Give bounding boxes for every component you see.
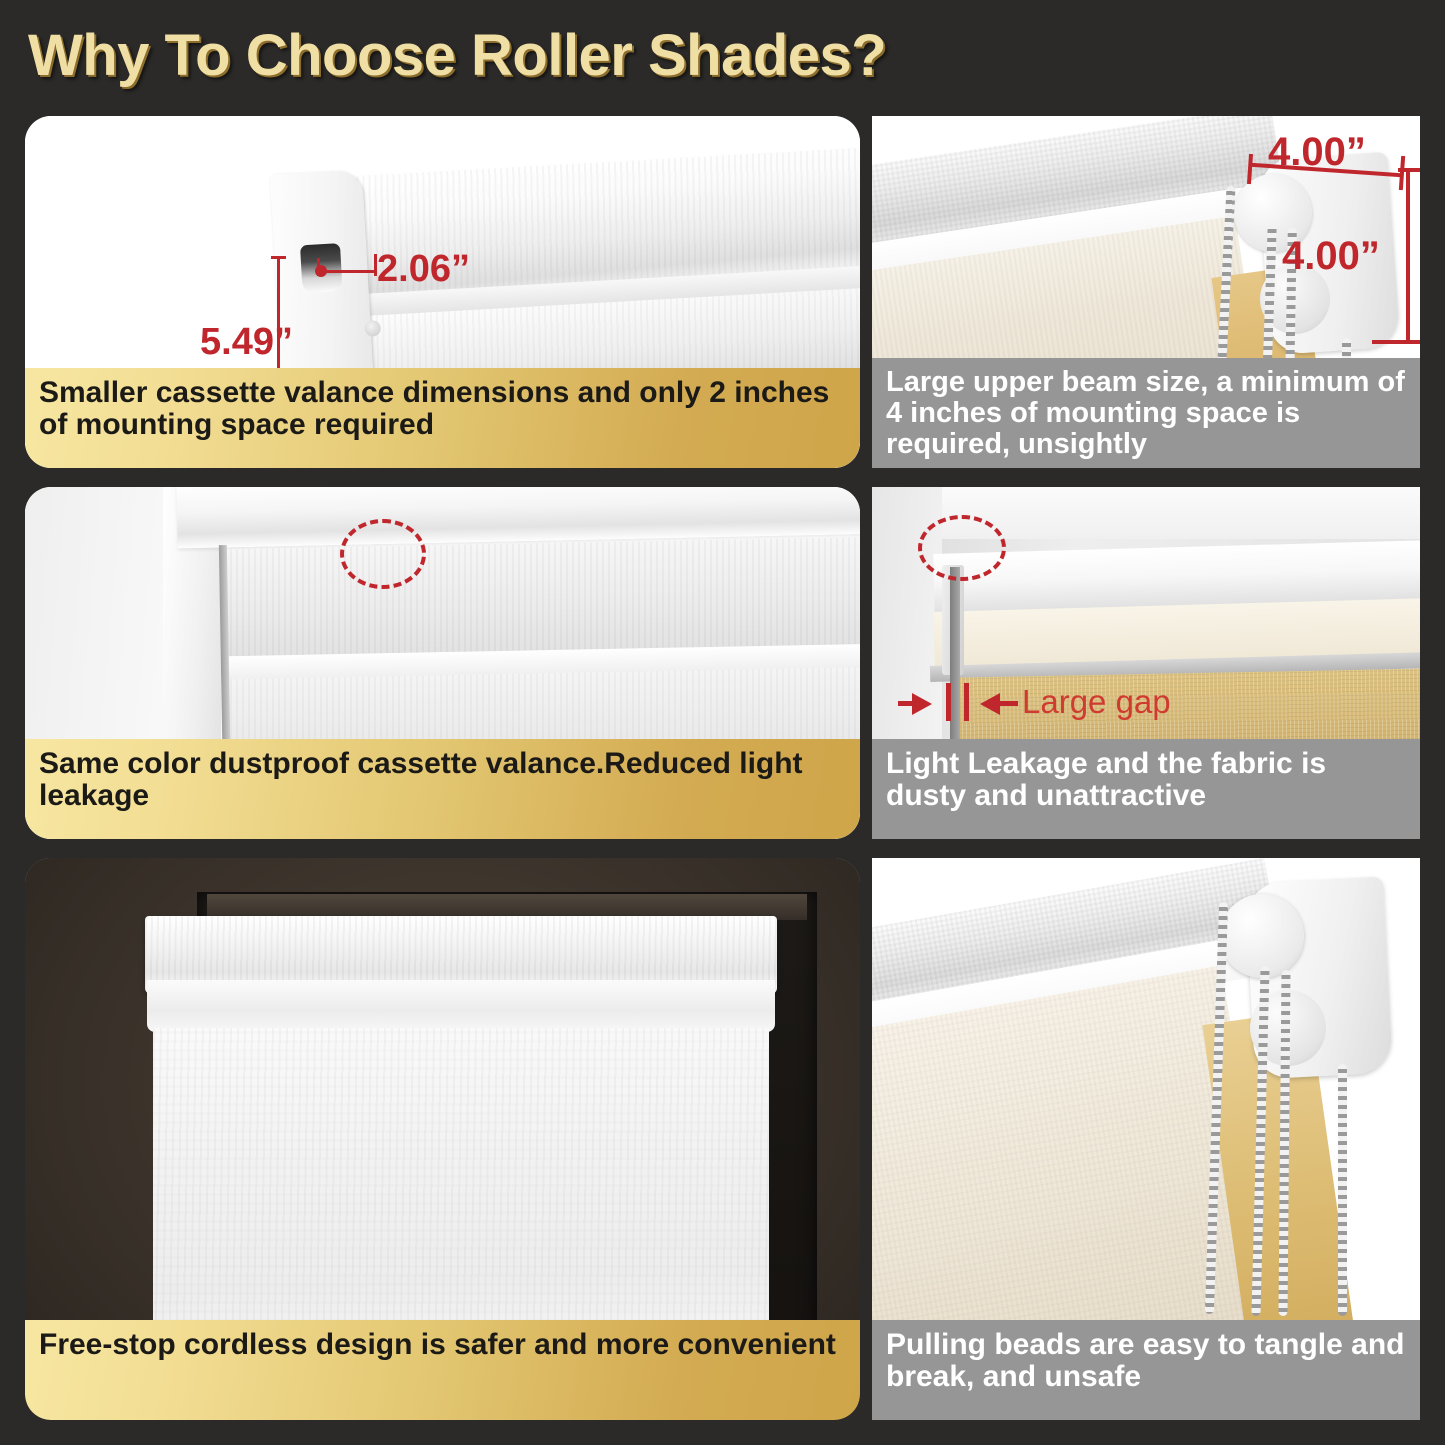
highlight-circle-icon (918, 515, 1006, 581)
panel-pulling-beads: Pulling beads are easy to tangle and bre… (872, 858, 1420, 1420)
comparison-grid: 5.49” 2.06” Smaller cassette valance dim… (0, 0, 1445, 1445)
panel-dustproof-valance: smaller gap Same color dustproof cassett… (25, 487, 860, 839)
cassette-valance-lower-lip (147, 980, 775, 1032)
panel-5-caption: Free-stop cordless design is safer and m… (25, 1320, 860, 1420)
width-dimension-label: 2.06” (377, 248, 470, 291)
gap-arrow-right-icon (980, 693, 1000, 715)
highlight-circle-icon (340, 519, 426, 589)
width-dimension-anchor-dot (315, 265, 327, 277)
beam-width-label: 4.00” (1268, 130, 1366, 175)
panel-4-caption: Light Leakage and the fabric is dusty an… (872, 739, 1420, 839)
panel-1-caption: Smaller cassette valance dimensions and … (25, 368, 860, 468)
height-dimension-tick-top (271, 256, 286, 259)
bead-chain-right (1338, 1064, 1347, 1316)
panel-smaller-cassette: 5.49” 2.06” Smaller cassette valance dim… (25, 116, 860, 468)
gap-arrow-left-stem (898, 701, 914, 706)
gap-arrow-left-icon (912, 693, 932, 715)
beam-height-tick-top (1398, 168, 1420, 172)
panel-large-upper-beam: 4.00” 4.00” Large upper beam size, a min… (872, 116, 1420, 468)
panel-6-caption: Pulling beads are easy to tangle and bre… (872, 1320, 1420, 1420)
bracket-upper-drum (1220, 894, 1304, 978)
panel-2-caption: Large upper beam size, a minimum of 4 in… (872, 358, 1420, 468)
beam-height-dimension-line (1406, 168, 1410, 344)
gap-marker-bar-1 (946, 683, 951, 721)
beam-width-tick-right (1399, 156, 1405, 190)
beam-height-tick-bottom (1372, 340, 1420, 344)
gap-arrow-right-stem (1000, 701, 1018, 706)
roller-shade-fabric (153, 1028, 769, 1358)
panel-3-caption: Same color dustproof cassette valance.Re… (25, 739, 860, 839)
gap-label: Large gap (1022, 683, 1171, 721)
panel-light-leakage: Large gap Light Leakage and the fabric i… (872, 487, 1420, 839)
panel-cordless-design: Free-stop cordless design is safer and m… (25, 858, 860, 1420)
height-dimension-label: 5.49” (200, 321, 293, 364)
beam-height-label: 4.00” (1282, 234, 1380, 279)
gap-marker-bar-2 (964, 683, 969, 721)
